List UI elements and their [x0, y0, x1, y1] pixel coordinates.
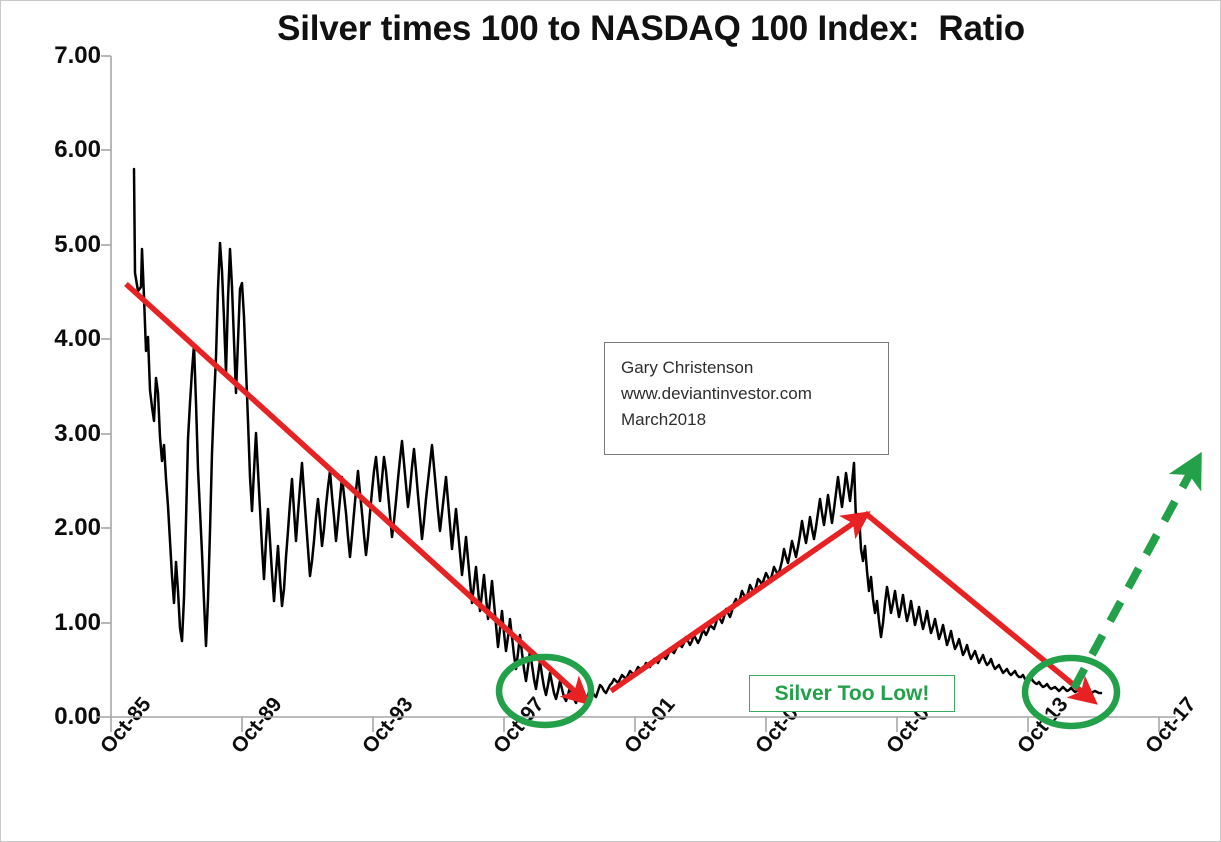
y-tick-marks: [101, 56, 111, 623]
red-trend-down-arrow-2: [865, 513, 1086, 695]
red-trend-up-arrow: [611, 520, 858, 691]
x-tick-marks: [111, 717, 1159, 732]
chart-page: Silver times 100 to NASDAQ 100 Index: Ra…: [0, 0, 1221, 842]
green-dashed-projection-arrow: [1074, 468, 1193, 688]
silver-too-low-callout: Silver Too Low!: [749, 675, 955, 712]
red-trend-down-arrow-1: [126, 284, 579, 695]
credit-annotation-box: Gary Christenson www.deviantinvestor.com…: [604, 342, 889, 455]
credit-website: www.deviantinvestor.com: [621, 381, 888, 407]
green-circle-2017-low: [1025, 658, 1117, 726]
silver-too-low-label: Silver Too Low!: [775, 682, 930, 706]
credit-date: March2018: [621, 407, 888, 433]
credit-author: Gary Christenson: [621, 355, 888, 381]
